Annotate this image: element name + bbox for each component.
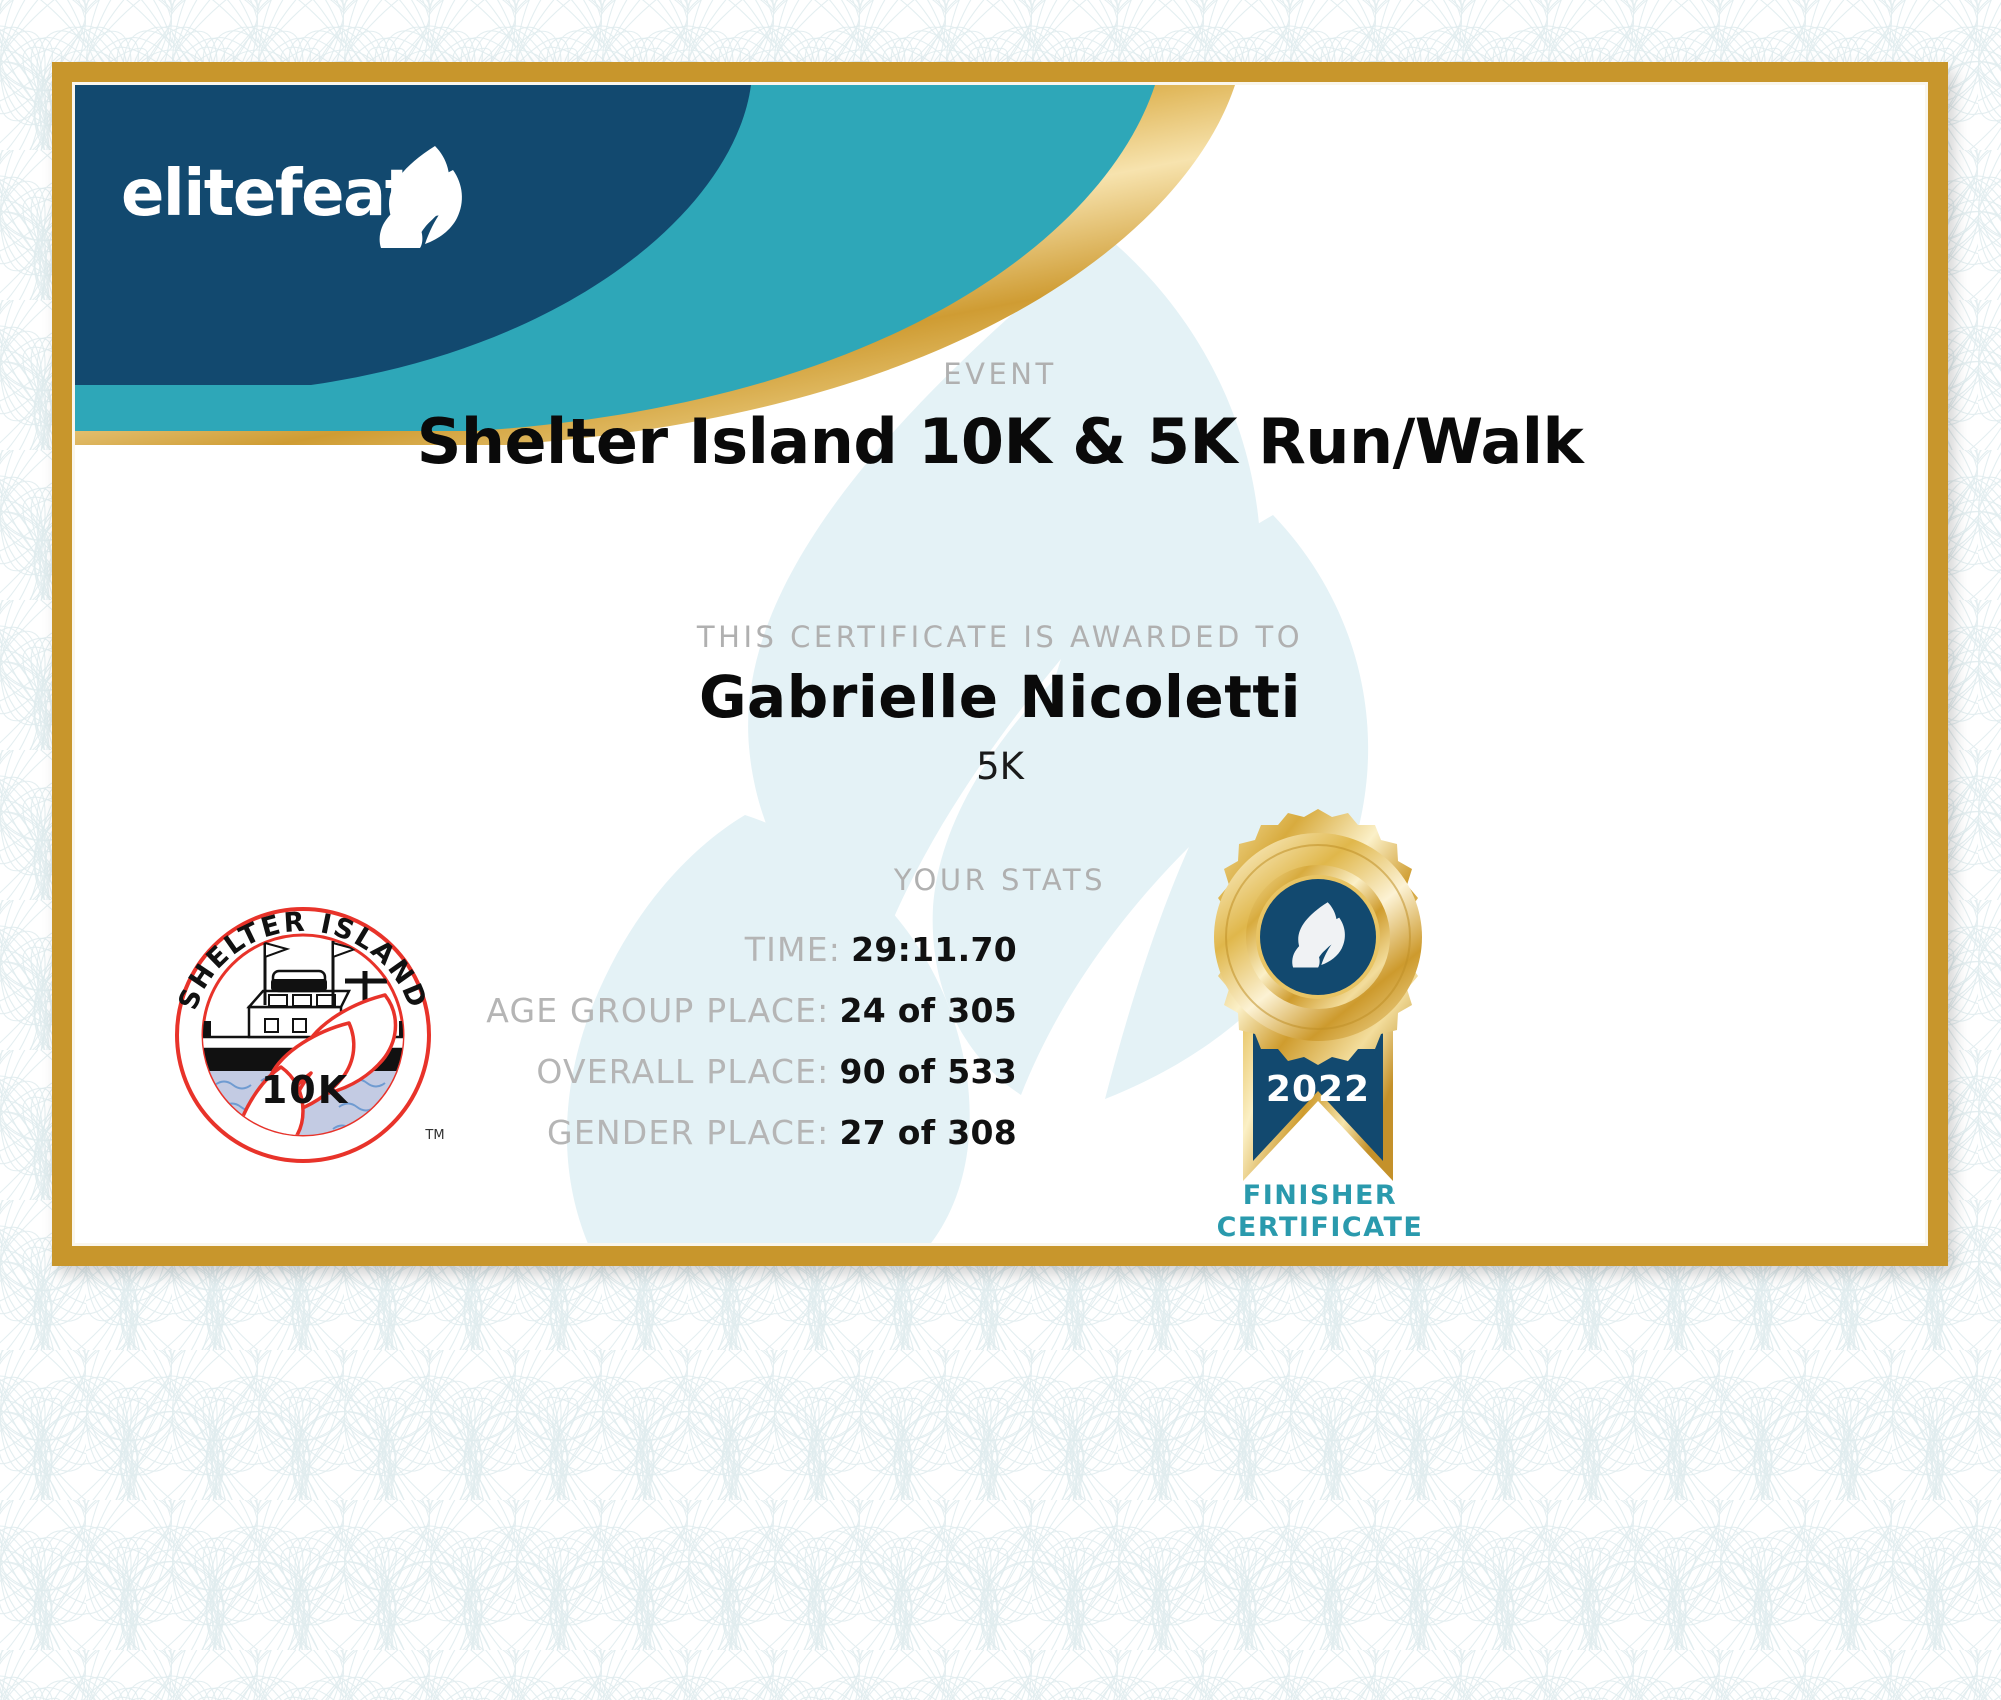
recipient-division: 5K xyxy=(75,745,1925,788)
shelter-island-ferry-badge-icon: SHELTER ISLAND xyxy=(153,885,453,1175)
certificate-frame: elitefeats EVENT Shelter Island 10K & 5K… xyxy=(52,62,1948,1266)
gold-rosette-medal-icon: 2022 xyxy=(1173,805,1463,1225)
finisher-caption: FINISHER CERTIFICATE xyxy=(1145,1180,1495,1243)
stat-key: GENDER PLACE: xyxy=(547,1113,829,1152)
stat-key: OVERALL PLACE: xyxy=(536,1052,829,1091)
stat-key: AGE GROUP PLACE: xyxy=(486,991,829,1030)
event-label: EVENT xyxy=(75,357,1925,391)
stat-value: 90 of 533 xyxy=(839,1052,1017,1091)
finisher-caption-line2: CERTIFICATE xyxy=(1145,1212,1495,1243)
event-logo-distance: 10K xyxy=(261,1068,349,1112)
awarded-to-label: THIS CERTIFICATE IS AWARDED TO xyxy=(75,620,1925,654)
stat-value: 29:11.70 xyxy=(851,930,1017,969)
stat-value: 27 of 308 xyxy=(839,1113,1017,1152)
medal-year: 2022 xyxy=(1266,1069,1370,1110)
stat-key: TIME: xyxy=(745,930,841,969)
stat-value: 24 of 305 xyxy=(839,991,1017,1030)
recipient-name: Gabrielle Nicoletti xyxy=(75,663,1925,731)
certificate-body: elitefeats EVENT Shelter Island 10K & 5K… xyxy=(75,85,1925,1243)
trademark-mark: TM xyxy=(424,1128,444,1143)
event-title: Shelter Island 10K & 5K Run/Walk xyxy=(75,405,1925,478)
finisher-caption-line1: FINISHER xyxy=(1145,1180,1495,1212)
